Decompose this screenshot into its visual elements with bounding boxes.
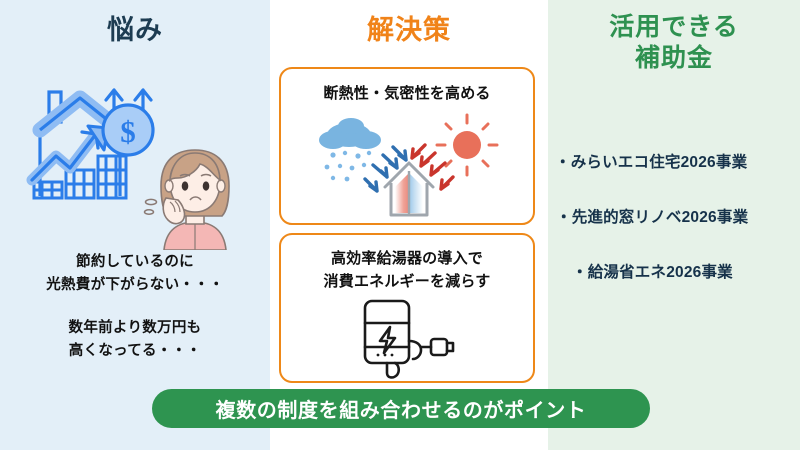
subsidy-list: ・みらいエコ住宅2026事業 ・先進的窓リノベ2026事業 ・給湯省エネ2026…	[548, 150, 800, 282]
key-point-banner: 複数の制度を組み合わせるのがポイント	[152, 389, 650, 428]
solution-card-water-heater-label: 高効率給湯器の導入で 消費エネルギーを減らす	[281, 248, 533, 293]
column-problem-title: 悩み	[0, 14, 270, 47]
problem-text-2-line-2: 高くなってる・・・	[0, 340, 270, 363]
list-item[interactable]: ・給湯省エネ2026事業	[572, 260, 800, 282]
worried-woman-illustration	[142, 142, 248, 250]
list-item[interactable]: ・先進的窓リノベ2026事業	[556, 205, 800, 227]
column-problem: 悩み	[0, 0, 270, 450]
column-subsidies-title-line-2: 補助金	[548, 43, 800, 74]
infographic-canvas: 悩み	[0, 0, 800, 450]
solution-card-water-heater-label-line-1: 高効率給湯器の導入で	[281, 248, 533, 271]
list-item[interactable]: ・みらいエコ住宅2026事業	[555, 150, 800, 172]
column-subsidies-title: 活用できる 補助金	[548, 12, 800, 73]
house-insulation-cloud-sun-illustration	[307, 113, 511, 221]
problem-text-2-line-1: 数年前より数万円も	[0, 317, 270, 340]
key-point-banner-text: 複数の制度を組み合わせるのがポイント	[216, 394, 587, 423]
problem-text-1-line-2: 光熱費が下がらない・・・	[0, 274, 270, 297]
solution-card-insulation[interactable]: 断熱性・気密性を高める	[279, 67, 535, 225]
column-solution-title: 解決策	[270, 14, 548, 47]
solution-card-water-heater-label-line-2: 消費エネルギーを減らす	[281, 271, 533, 294]
problem-text-2: 数年前より数万円も 高くなってる・・・	[0, 317, 270, 364]
problem-text-1: 節約しているのに 光熱費が下がらない・・・	[0, 251, 270, 298]
water-heater-power-adapter-icon	[347, 297, 471, 381]
svg-text:$: $	[120, 114, 136, 149]
column-subsidies-title-line-1: 活用できる	[548, 12, 800, 43]
solution-card-insulation-label-line-1: 断熱性・気密性を高める	[281, 83, 533, 106]
problem-text-1-line-1: 節約しているのに	[0, 251, 270, 274]
solution-card-insulation-label: 断熱性・気密性を高める	[281, 83, 533, 106]
solution-card-water-heater[interactable]: 高効率給湯器の導入で 消費エネルギーを減らす	[279, 233, 535, 383]
